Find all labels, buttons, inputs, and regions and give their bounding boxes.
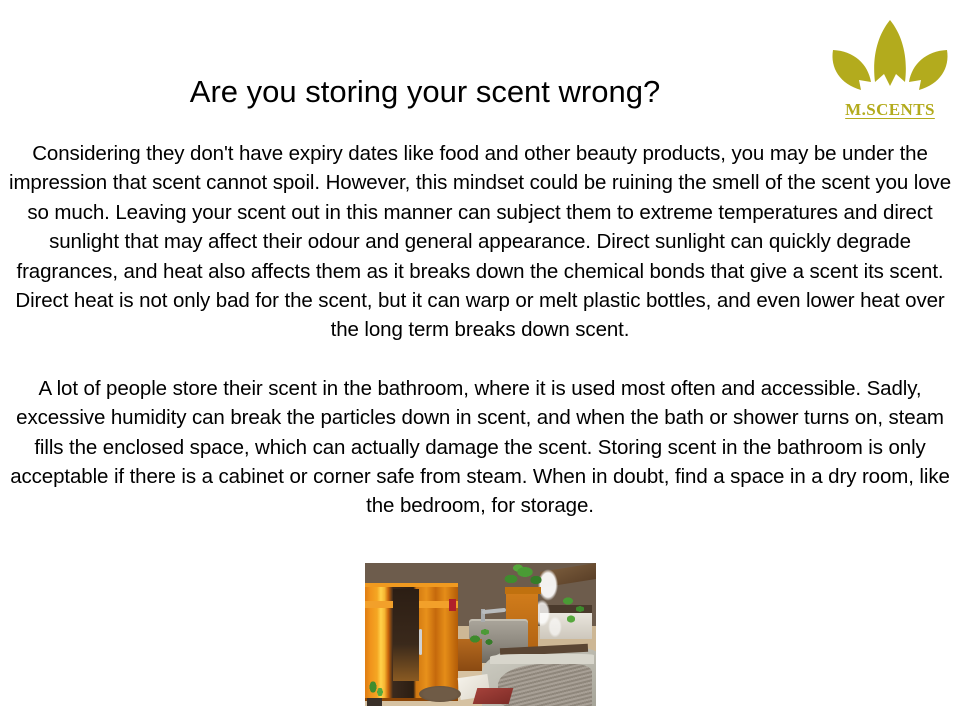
three-leaf-icon: [828, 12, 952, 100]
potted-plant-small: [367, 678, 385, 700]
sauna-door-handle: [419, 629, 422, 655]
pool-edge: [490, 654, 594, 664]
slide: M.SCENTS Are you storing your scent wron…: [0, 0, 960, 720]
paragraph-1: Considering they don't have expiry dates…: [8, 139, 952, 345]
spa-photo-scene: [365, 563, 596, 706]
plant-foliage-mid: [469, 625, 493, 647]
spa-photo: [365, 563, 596, 706]
body-content: Considering they don't have expiry dates…: [8, 139, 952, 521]
sauna-door-glass: [393, 589, 419, 681]
plant-foliage-top: [501, 563, 545, 589]
paragraph-2: A lot of people store their scent in the…: [8, 374, 952, 521]
wicker-lounger: [498, 664, 592, 706]
faucet-spout: [482, 608, 506, 614]
floor-rug-red: [473, 688, 514, 704]
sauna-control-panel: [449, 599, 456, 611]
floor-rug-round: [419, 686, 461, 702]
brand-name: M.SCENTS: [828, 100, 952, 120]
plant-pot: [367, 698, 382, 706]
plant-foliage-right: [560, 593, 590, 627]
brand-logo: M.SCENTS: [828, 12, 952, 130]
page-title: Are you storing your scent wrong?: [40, 73, 810, 111]
